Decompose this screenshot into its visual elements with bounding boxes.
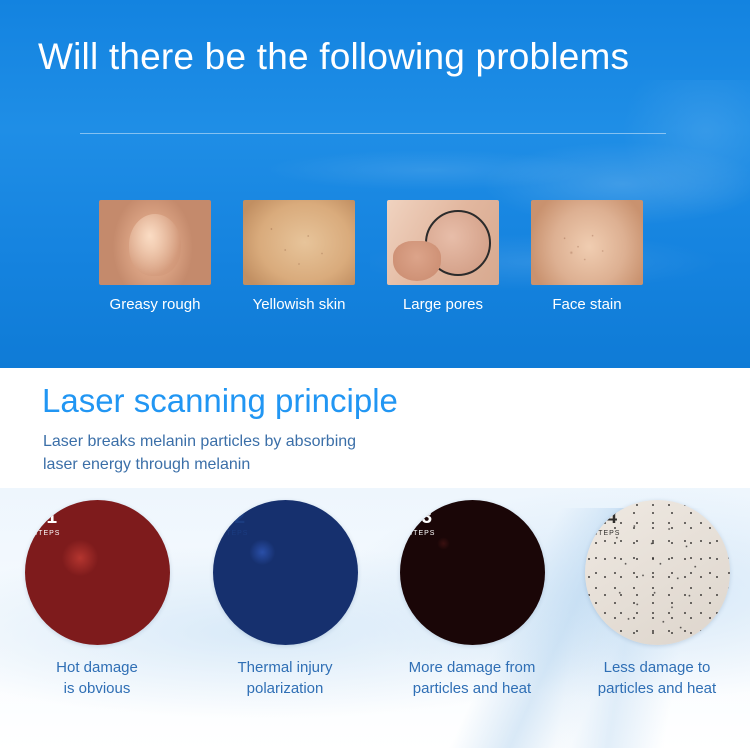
step-number: 01 — [33, 508, 61, 527]
principle-section: Laser scanning principle Laser breaks me… — [0, 368, 750, 750]
scattered-particles-image: 04 STEPS — [585, 500, 730, 645]
step-caption: Thermal injury polarization — [190, 657, 380, 699]
step-caption: More damage from particles and heat — [377, 657, 567, 699]
step-item-01: 01 STEPS Hot damage is obvious — [2, 500, 192, 699]
step-item-03: 03 STEPS More damage from particles and … — [377, 500, 567, 699]
promo-page: Will there be the following problems Gre… — [0, 0, 750, 750]
step-badge: 01 STEPS — [33, 508, 61, 537]
step-label: STEPS — [33, 530, 61, 537]
yellow-face-closeup-image — [243, 200, 355, 285]
step-badge: 02 STEPS — [221, 508, 249, 537]
nose-closeup-image — [99, 200, 211, 285]
problem-caption: Yellowish skin — [243, 296, 355, 313]
step-badge: 04 STEPS — [593, 508, 621, 537]
step-number: 03 — [408, 508, 436, 527]
principle-subtitle: Laser breaks melanin particles by absorb… — [43, 430, 563, 476]
step-list: 01 STEPS Hot damage is obvious 02 STEPS … — [0, 500, 750, 710]
principle-title: Laser scanning principle — [42, 382, 398, 420]
problem-caption: Face stain — [531, 296, 643, 313]
step-number: 02 — [221, 508, 249, 527]
problem-caption: Greasy rough — [99, 296, 211, 313]
step-badge: 03 STEPS — [408, 508, 436, 537]
blue-cells-image: 02 STEPS — [213, 500, 358, 645]
problem-item-greasy-rough: Greasy rough — [99, 200, 211, 313]
problem-item-face-stain: Face stain — [531, 200, 643, 313]
problems-section: Will there be the following problems Gre… — [0, 0, 750, 368]
step-label: STEPS — [593, 530, 621, 537]
pink-skin-particles-image: 03 STEPS — [400, 500, 545, 645]
step-item-04: 04 STEPS Less damage to particles and he… — [562, 500, 750, 699]
problem-caption: Large pores — [387, 296, 499, 313]
red-cells-image: 01 STEPS — [25, 500, 170, 645]
divider — [80, 133, 666, 134]
problem-item-large-pores: Large pores — [387, 200, 499, 313]
pores-magnifier-image — [387, 200, 499, 285]
step-label: STEPS — [408, 530, 436, 537]
step-number: 04 — [593, 508, 621, 527]
step-caption: Less damage to particles and heat — [562, 657, 750, 699]
problem-thumbnail-list: Greasy rough Yellowish skin Large pores … — [99, 200, 659, 322]
freckled-face-image — [531, 200, 643, 285]
problem-item-yellowish-skin: Yellowish skin — [243, 200, 355, 313]
step-label: STEPS — [221, 530, 249, 537]
problems-title: Will there be the following problems — [38, 36, 629, 78]
step-item-02: 02 STEPS Thermal injury polarization — [190, 500, 380, 699]
step-caption: Hot damage is obvious — [2, 657, 192, 699]
